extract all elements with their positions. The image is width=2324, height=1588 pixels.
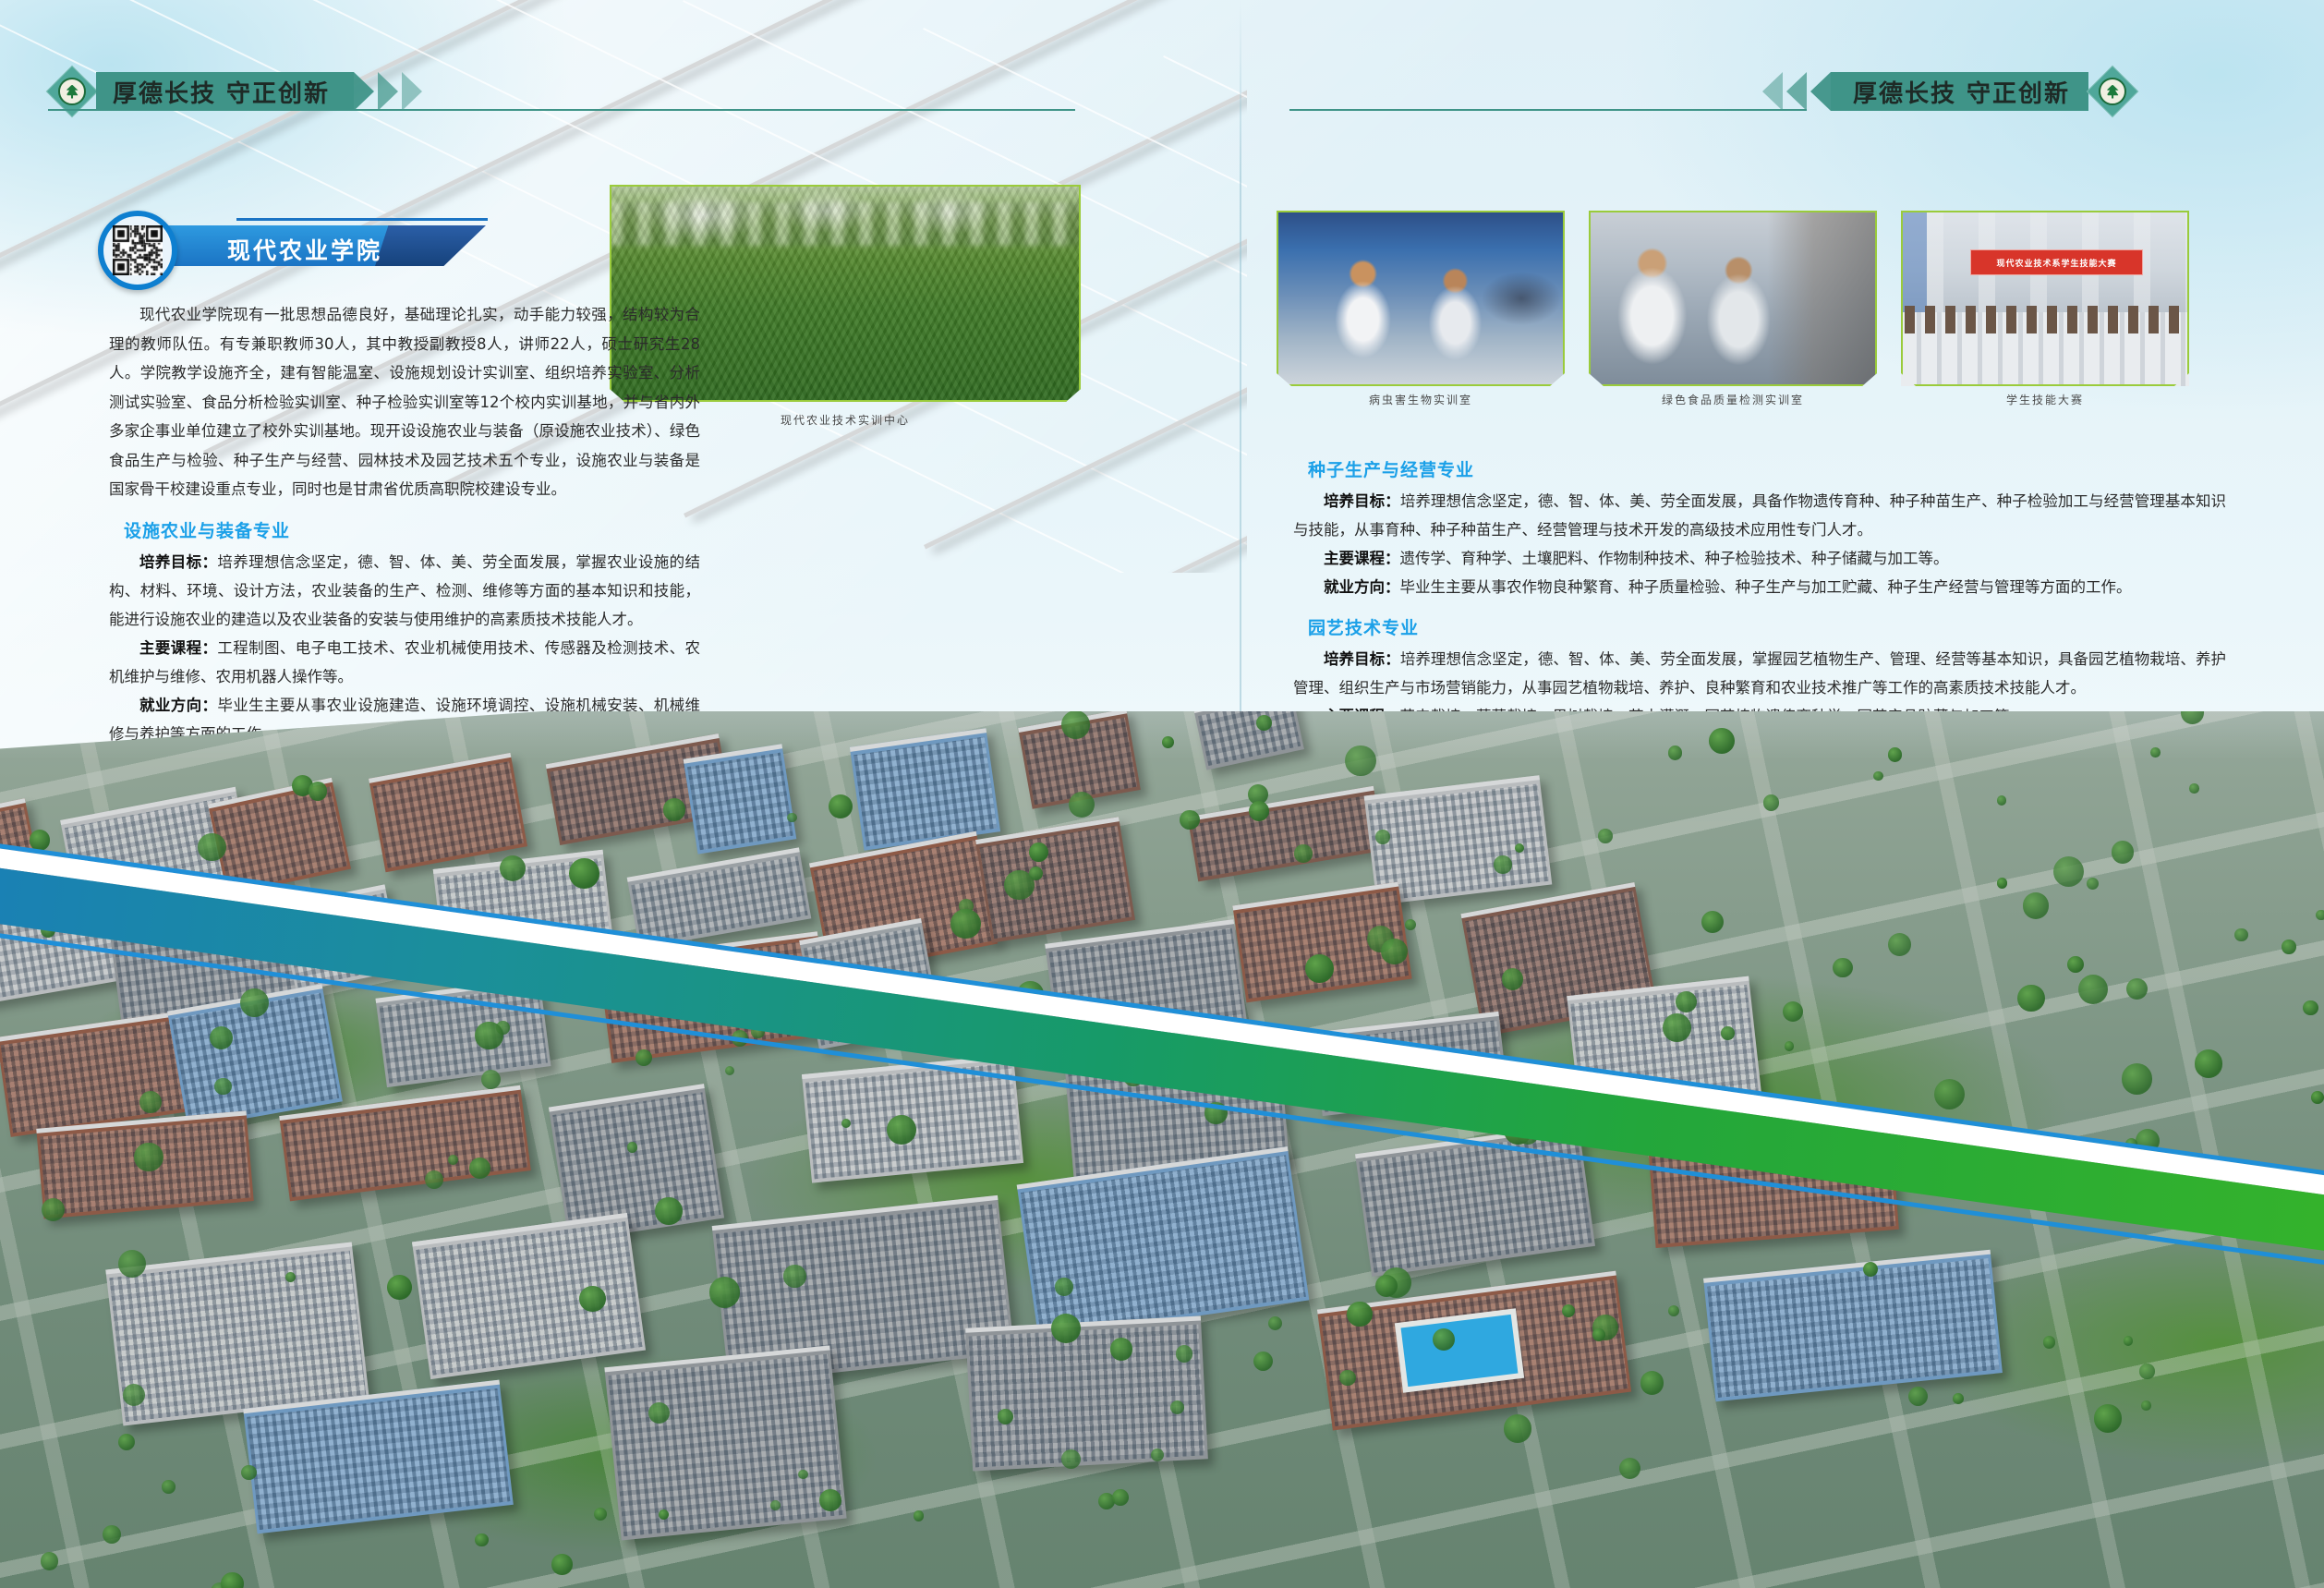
major-detail-label: 培养目标：: [139, 553, 217, 571]
campus-tree: [1833, 958, 1852, 977]
campus-tree: [2087, 878, 2099, 890]
photo-caption: 病虫害生物实训室: [1277, 392, 1565, 407]
campus-tree: [2078, 975, 2108, 1004]
campus-tree: [1783, 1001, 1803, 1022]
campus-tree: [2067, 956, 2084, 973]
campus-tree: [1305, 954, 1334, 983]
major-detail-label: 培养目标：: [1324, 650, 1400, 668]
campus-tree: [1888, 933, 1911, 956]
major-detail: 主要课程：工程制图、电子电工技术、农业机械使用技术、传感器及检测技术、农机维护与…: [109, 634, 700, 691]
campus-tree: [663, 798, 685, 820]
major-detail: 培养目标：培养理想信念坚定，德、智、体、美、劳全面发展，掌握农业设施的结构、材料…: [109, 548, 700, 634]
campus-tree: [1663, 1013, 1691, 1042]
campus-tree: [2311, 1091, 2323, 1103]
campus-tree: [1997, 878, 2008, 889]
photo-3: 现代农业技术系学生技能大赛: [1901, 211, 2189, 386]
campus-building: [1187, 785, 1384, 880]
header-rule-left: [48, 109, 1075, 111]
campus-tree: [2181, 711, 2204, 724]
chevrons-left-icon: [1762, 72, 1831, 111]
campus-building: [850, 728, 1000, 851]
campus-tree: [829, 794, 853, 819]
major-detail-label: 就业方向：: [1324, 578, 1400, 596]
campus-tree: [1785, 1041, 1794, 1050]
campus-tree: [1721, 1026, 1735, 1040]
campus-tree: [1701, 911, 1724, 933]
campus-tree: [1381, 939, 1407, 964]
campus-tree: [1249, 801, 1269, 821]
campus-tree: [1405, 919, 1416, 930]
campus-tree: [1598, 829, 1613, 843]
right-photo-item: 病虫害生物实训室: [1277, 211, 1565, 407]
campus-tree: [1888, 747, 1903, 762]
header-rule-right: [1289, 109, 1807, 111]
major-detail: 培养目标：培养理想信念坚定，德、智、体、美、劳全面发展，具备作物遗传育种、种子种…: [1293, 487, 2226, 544]
campus-building: [1193, 711, 1304, 770]
campus-tree: [198, 833, 225, 861]
campus-tree: [2112, 841, 2135, 864]
campus-tree: [2150, 747, 2161, 758]
major-detail-label: 主要课程：: [1324, 550, 1400, 567]
campus-tree: [2234, 928, 2247, 941]
chevrons-right-icon: [354, 72, 422, 111]
motto-left: 厚德长技 守正创新: [113, 75, 330, 109]
campus-tree: [950, 909, 980, 939]
college-seal-icon-right: [2088, 67, 2136, 115]
campus-tree: [1494, 855, 1511, 873]
campus-tree: [1294, 844, 1312, 862]
campus-tree: [2316, 910, 2324, 920]
campus-tree: [1345, 746, 1375, 776]
photo-caption: 学生技能大赛: [1901, 392, 2189, 407]
major-detail: 主要课程：遗传学、育种学、土壤肥料、作物制种技术、种子检验技术、种子储藏与加工等…: [1293, 544, 2226, 573]
campus-tree: [1162, 736, 1174, 748]
header-ribbon-left: 厚德长技 守正创新: [48, 72, 422, 111]
campus-tree: [2282, 939, 2296, 954]
brochure-page: 厚德长技 守正创新 厚德长技 守正创新 现代农业学院 现代农业技术实训中心: [0, 0, 2324, 1588]
department-title: 现代农业学院: [227, 233, 382, 266]
campus-tree: [1180, 810, 1199, 830]
qr-code[interactable]: [98, 211, 177, 290]
header-ribbon-right: 厚德长技 守正创新: [1762, 72, 2136, 111]
campus-tree: [1763, 794, 1779, 810]
right-photo-item: 现代农业技术系学生技能大赛学生技能大赛: [1901, 211, 2189, 407]
campus-building: [684, 745, 796, 855]
intro-paragraph: 现代农业学院现有一批思想品德良好，基础理论扎实，动手能力较强，结构较为合理的教师…: [109, 300, 700, 504]
department-title-block: 现代农业学院: [98, 211, 578, 270]
motto-right: 厚德长技 守正创新: [1853, 75, 2070, 109]
campus-building: [369, 753, 527, 872]
motto-bar-right: 厚德长技 守正创新: [1831, 72, 2088, 111]
title-underline: [236, 218, 488, 221]
campus-tree: [2195, 1049, 2222, 1077]
campus-tree: [1061, 711, 1090, 739]
campus-tree: [2189, 783, 2198, 793]
major-detail: 就业方向：毕业生主要从事农作物良种繁育、种子质量检验、种子生产与加工贮藏、种子生…: [1293, 573, 2226, 601]
campus-tree: [1375, 830, 1390, 844]
campus-building: [975, 818, 1135, 943]
major-detail-text: 毕业生主要从事农作物良种繁育、种子质量检验、种子生产与加工贮藏、种子生产经营与管…: [1400, 578, 2132, 596]
title-shape-secondary: [375, 225, 486, 266]
campus-building: [626, 848, 811, 949]
campus-tree: [2023, 892, 2050, 919]
campus-tree: [1256, 715, 1272, 731]
motto-bar-left: 厚德长技 守正创新: [96, 72, 354, 111]
campus-tree: [787, 813, 796, 822]
major-title: 种子生产与经营专业: [1308, 456, 2226, 481]
campus-tree: [2126, 978, 2148, 1000]
major-title: 园艺技术专业: [1308, 614, 2226, 639]
campus-tree: [1934, 1079, 1965, 1109]
major-detail-text: 培养理想信念坚定，德、智、体、美、劳全面发展，掌握园艺植物生产、管理、经营等基本…: [1293, 650, 2226, 697]
campus-tree: [309, 782, 328, 801]
campus-tree: [1997, 795, 2007, 806]
major-detail-label: 培养目标：: [1324, 492, 1400, 510]
major-detail-text: 培养理想信念坚定，德、智、体、美、劳全面发展，具备作物遗传育种、种子种苗生产、种…: [1293, 492, 2226, 539]
campus-tree: [2053, 856, 2084, 887]
campus-tree: [2122, 1063, 2153, 1095]
photo-caption: 绿色食品质量检测实训室: [1589, 392, 1877, 407]
photo-2: [1589, 211, 1877, 386]
competition-banner-text: 现代农业技术系学生技能大赛: [1996, 257, 2116, 269]
major-title: 设施农业与装备专业: [124, 517, 700, 542]
major-detail-text: 遗传学、育种学、土壤肥料、作物制种技术、种子检验技术、种子储藏与加工等。: [1400, 550, 1949, 567]
campus-tree: [1668, 746, 1683, 760]
major-detail: 培养目标：培养理想信念坚定，德、智、体、美、劳全面发展，掌握园艺植物生产、管理、…: [1293, 645, 2226, 702]
major-detail-label: 主要课程：: [139, 639, 217, 657]
campus-tree: [2017, 985, 2045, 1012]
campus-tree: [1069, 792, 1095, 818]
campus-tree: [569, 858, 599, 889]
campus-tree: [2303, 1000, 2318, 1016]
competition-banner: 现代农业技术系学生技能大赛: [1970, 249, 2143, 276]
campus-tree: [1873, 771, 1882, 781]
right-photo-item: 绿色食品质量检测实训室: [1589, 211, 1877, 407]
photo-1: [1277, 211, 1565, 386]
campus-tree: [1709, 728, 1735, 754]
